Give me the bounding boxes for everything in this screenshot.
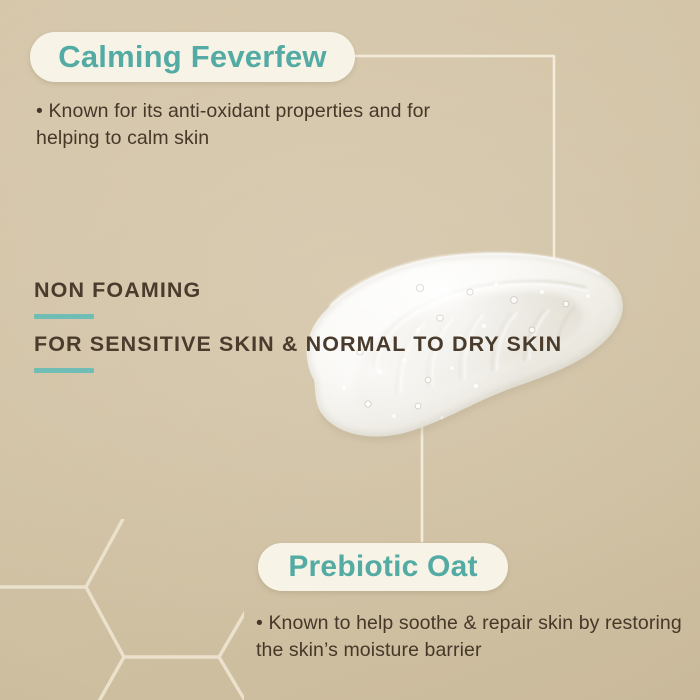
- infographic-canvas: Calming Feverfew • Known for its anti-ox…: [0, 0, 700, 700]
- claim-skin-types: FOR SENSITIVE SKIN & NORMAL TO DRY SKIN: [34, 330, 562, 373]
- claim-non-foaming-text: NON FOAMING: [34, 276, 201, 305]
- claim-skin-types-text: FOR SENSITIVE SKIN & NORMAL TO DRY SKIN: [34, 330, 562, 359]
- ingredient-pill-label: Prebiotic Oat: [288, 550, 477, 584]
- ingredient-pill-calming-feverfew[interactable]: Calming Feverfew: [30, 32, 355, 82]
- claim-non-foaming-accent-rule: [34, 314, 94, 319]
- connector-line-prebiotic-oat: [410, 425, 434, 543]
- connector-line-feverfew: [352, 50, 562, 282]
- ingredient-pill-prebiotic-oat[interactable]: Prebiotic Oat: [258, 543, 508, 591]
- claim-non-foaming: NON FOAMING: [34, 276, 201, 319]
- claim-skin-types-accent-rule: [34, 368, 94, 373]
- ingredient-description-prebiotic-oat: • Known to help soothe & repair skin by …: [256, 610, 686, 665]
- ingredient-description-calming-feverfew: • Known for its anti-oxidant properties …: [36, 98, 456, 153]
- honeycomb-pattern-decoration: [0, 519, 244, 700]
- ingredient-pill-label: Calming Feverfew: [58, 39, 327, 75]
